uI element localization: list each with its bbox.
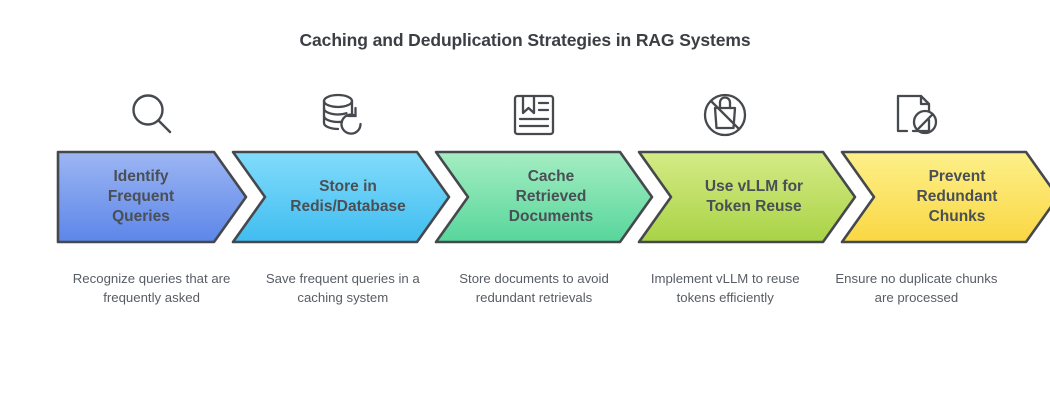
icon-cell-1	[56, 84, 247, 146]
caption-step-2: Save frequent queries in a caching syste…	[247, 270, 438, 307]
no-bag-icon	[697, 87, 753, 143]
caption-step-5: Ensure no duplicate chunks are processed	[821, 270, 1012, 307]
caption-step-1: Recognize queries that are frequently as…	[56, 270, 247, 307]
magnifying-glass-icon	[124, 87, 180, 143]
caption-row: Recognize queries that are frequently as…	[56, 270, 1012, 307]
chevron-step-4[interactable]: Use vLLM for Token Reuse	[637, 150, 857, 244]
icon-cell-5	[821, 84, 1012, 146]
database-refresh-icon	[315, 87, 371, 143]
icon-cell-4	[630, 84, 821, 146]
icon-cell-3	[438, 84, 629, 146]
caption-step-3: Store documents to avoid redundant retri…	[438, 270, 629, 307]
chevron-step-1[interactable]: Identify Frequent Queries	[56, 150, 248, 244]
icon-cell-2	[247, 84, 438, 146]
chevron-step-3[interactable]: Cache Retrieved Documents	[434, 150, 654, 244]
chevron-row: Identify Frequent Queries Store in Redis…	[56, 150, 1012, 244]
document-bookmark-icon	[506, 87, 562, 143]
caption-step-4: Implement vLLM to reuse tokens efficient…	[630, 270, 821, 307]
page-title: Caching and Deduplication Strategies in …	[0, 30, 1050, 51]
chevron-step-2[interactable]: Store in Redis/Database	[231, 150, 451, 244]
chevron-step-5[interactable]: Prevent Redundant Chunks	[840, 150, 1050, 244]
icon-row	[56, 84, 1012, 146]
document-prohibited-icon	[888, 87, 944, 143]
